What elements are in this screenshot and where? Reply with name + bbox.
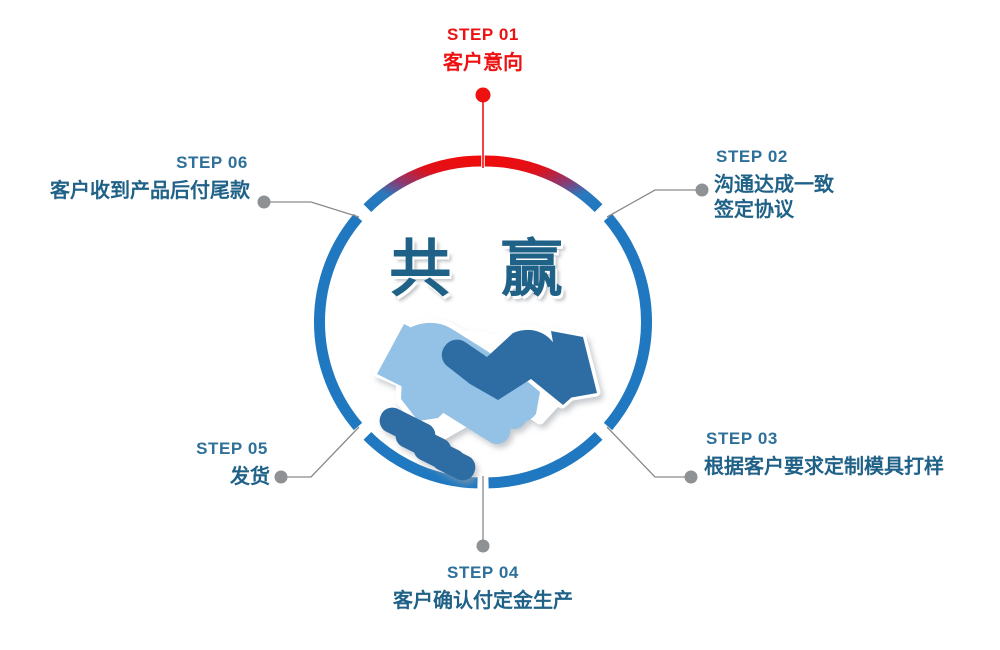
step-dot-06 — [258, 196, 271, 209]
step-label-05[interactable]: STEP 05 发货 — [110, 438, 270, 489]
step-text-01-line-1: 客户意向 — [383, 50, 583, 76]
ring-segment-06 — [367, 161, 481, 208]
step-label-03[interactable]: STEP 03 根据客户要求定制模具打样 — [704, 428, 984, 479]
step-label-01[interactable]: STEP 01 客户意向 — [383, 24, 583, 75]
step-dot-04 — [477, 540, 490, 553]
connector-line-step-06 — [264, 202, 359, 217]
diagram-canvas: 共 赢 STEP 01 客户意向 STEP 02 沟通达成一致 签定协议 STE… — [0, 0, 1000, 650]
ring-segment-01 — [485, 161, 599, 208]
step-dot-03 — [685, 471, 698, 484]
step-label-06[interactable]: STEP 06 客户收到产品后付尾款 — [20, 152, 250, 203]
step-number-01: STEP 01 — [383, 24, 583, 46]
step-text-02-line-1: 沟通达成一致 — [714, 172, 954, 198]
connector-line-step-03 — [607, 427, 691, 477]
step-number-04: STEP 04 — [363, 562, 603, 584]
process-ring-graphic — [0, 0, 1000, 650]
step-label-02[interactable]: STEP 02 沟通达成一致 签定协议 — [714, 146, 954, 223]
step-label-04[interactable]: STEP 04 客户确认付定金生产 — [363, 562, 603, 613]
ring-segment-03 — [489, 436, 599, 483]
step-number-02: STEP 02 — [714, 146, 954, 168]
step-text-05-line-1: 发货 — [110, 464, 270, 490]
ring-segment-05 — [319, 218, 358, 427]
connector-line-step-05 — [283, 427, 359, 477]
step-text-06-line-1: 客户收到产品后付尾款 — [20, 178, 250, 204]
ring-segment-02 — [608, 218, 647, 427]
step-dot-05 — [275, 471, 288, 484]
step-text-02-line-2: 签定协议 — [714, 197, 954, 223]
center-wordmark: 共 赢 — [383, 218, 583, 308]
step-text-04-line-1: 客户确认付定金生产 — [363, 588, 603, 614]
connector-lines — [264, 95, 700, 540]
step-number-06: STEP 06 — [20, 152, 250, 174]
step-dot-02 — [696, 184, 709, 197]
step-number-05: STEP 05 — [110, 438, 270, 460]
step-dot-01 — [476, 88, 491, 103]
connector-line-step-02 — [607, 190, 700, 217]
step-text-03-line-1: 根据客户要求定制模具打样 — [704, 454, 984, 480]
step-number-03: STEP 03 — [704, 428, 984, 450]
